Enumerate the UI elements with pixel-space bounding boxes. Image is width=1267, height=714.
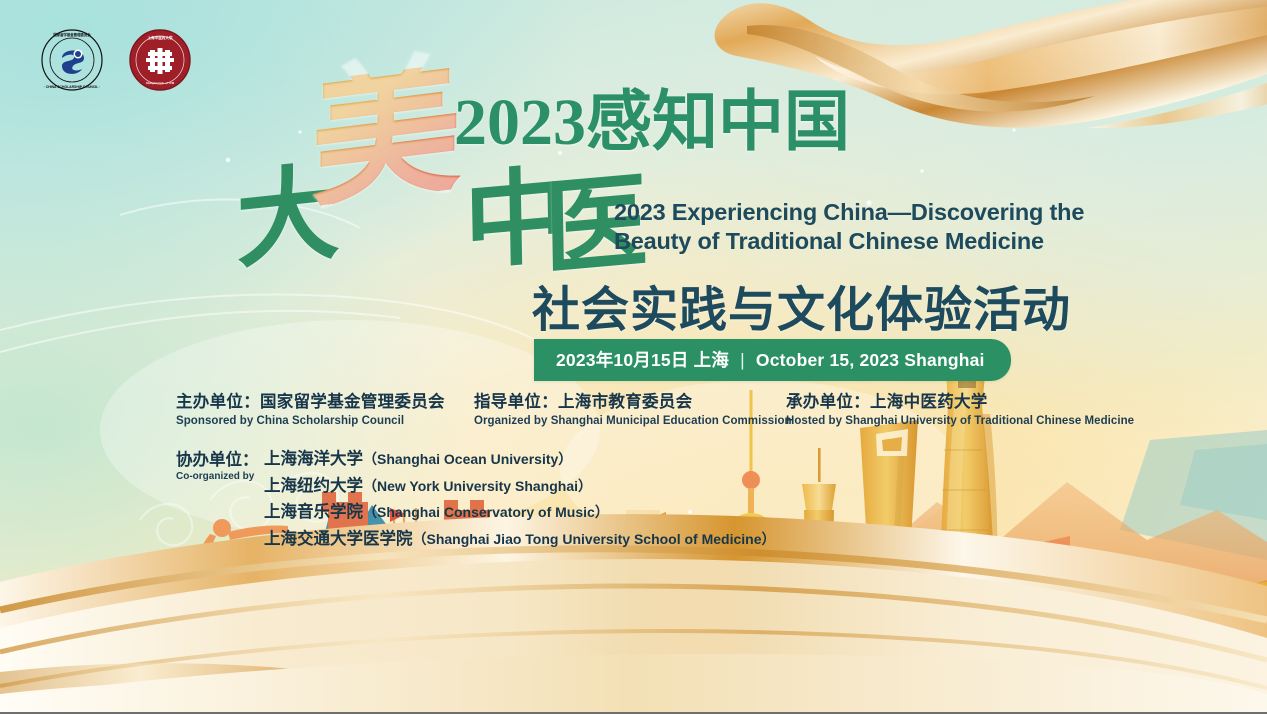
small-gold-buildings [718, 600, 926, 660]
headline-subtitle: 社会实践与文化体验活动 [532, 270, 1071, 340]
event-date-english: October 15, 2023 Shanghai [756, 350, 985, 370]
organizer-sponsor: 主办单位：国家留学基金管理委员会 Sponsored by China Scho… [176, 388, 474, 427]
co-organizer-label-en: Co-organized by [176, 471, 260, 482]
co-organizer-item: 上海海洋大学（Shanghai Ocean University） [264, 446, 776, 473]
co-organizer-item: 上海交通大学医学院（Shanghai Jiao Tong University … [264, 526, 776, 553]
svg-text:上海中医药大学: 上海中医药大学 [147, 35, 173, 40]
organizer-host-cn: 承办单位：上海中医药大学 [786, 388, 1116, 412]
organizer-row: 主办单位：国家留学基金管理委员会 Sponsored by China Scho… [176, 388, 1136, 427]
shanghai-world-financial-center [860, 420, 918, 660]
co-organizer-item: 上海纽约大学（New York University Shanghai） [264, 473, 776, 500]
sponsor-logos: 国家留学基金管理委员会 · CHINA SCHOLARSHIP COUNCIL … [40, 28, 192, 92]
co-organizer-block: 协办单位： Co-organized by 上海海洋大学（Shanghai Oc… [176, 446, 776, 553]
headline-block: 2023感知中国 2023 Experiencing China—Discove… [454, 90, 850, 156]
co-organizer-item-en: （Shanghai Conservatory of Music） [363, 504, 609, 520]
co-organizer-item-en: （Shanghai Jiao Tong University School of… [413, 531, 776, 547]
co-organizer-item-en: （New York University Shanghai） [363, 478, 592, 494]
organizer-sponsor-en: Sponsored by China Scholarship Council [176, 415, 474, 427]
co-organizer-item: 上海音乐学院（Shanghai Conservatory of Music） [264, 499, 776, 526]
organizer-guidance-cn: 指导单位：上海市教育委员会 [474, 388, 786, 412]
organizer-host-en: Hosted by Shanghai University of Traditi… [786, 415, 1116, 427]
headline-english-line1: 2023 Experiencing China—Discovering the [614, 198, 1084, 227]
event-date-badge: 2023年10月15日 上海 | October 15, 2023 Shangh… [534, 339, 1011, 381]
co-organizer-item-cn: 上海音乐学院 [264, 503, 363, 521]
co-organizer-item-cn: 上海纽约大学 [264, 477, 363, 495]
calligraphy-char-mei: 美 [311, 62, 462, 206]
svg-text:国家留学基金管理委员会: 国家留学基金管理委员会 [53, 32, 91, 37]
organizer-guidance-en: Organized by Shanghai Municipal Educatio… [474, 415, 786, 427]
svg-text:Shanghai Univ. of TCM: Shanghai Univ. of TCM [146, 81, 174, 85]
event-date-chinese: 2023年10月15日 上海 [556, 350, 729, 370]
co-organizer-item-en: （Shanghai Ocean University） [363, 451, 572, 467]
co-organizer-list: 上海海洋大学（Shanghai Ocean University） 上海纽约大学… [264, 446, 776, 553]
event-poster: 国家留学基金管理委员会 · CHINA SCHOLARSHIP COUNCIL … [0, 0, 1267, 714]
co-organizer-label: 协办单位： Co-organized by [176, 446, 260, 553]
co-organizer-item-cn: 上海交通大学医学院 [264, 530, 413, 548]
china-scholarship-council-logo: 国家留学基金管理委员会 · CHINA SCHOLARSHIP COUNCIL … [40, 28, 104, 92]
container-ships [880, 640, 1008, 654]
organizer-sponsor-cn: 主办单位：国家留学基金管理委员会 [176, 388, 474, 412]
headline-english-line2: Beauty of Traditional Chinese Medicine [614, 227, 1084, 256]
headline-main: 2023感知中国 [454, 90, 850, 156]
orange-mountains [747, 422, 1267, 652]
organizer-guidance: 指导单位：上海市教育委员会 Organized by Shanghai Muni… [474, 388, 786, 427]
co-organizer-label-cn: 协办单位： [176, 446, 260, 470]
right-orange-buildings [1006, 536, 1070, 660]
jin-mao-tower [796, 448, 842, 660]
headline-english: 2023 Experiencing China—Discovering the … [614, 198, 1084, 256]
co-organizer-item-cn: 上海海洋大学 [264, 450, 363, 468]
event-date-separator: | [734, 350, 751, 370]
organizer-host: 承办单位：上海中医药大学 Hosted by Shanghai Universi… [786, 388, 1116, 427]
svg-text:· CHINA SCHOLARSHIP COUNCIL ·: · CHINA SCHOLARSHIP COUNCIL · [44, 85, 101, 89]
shanghai-university-tcm-logo: 上海中医药大学 Shanghai Univ. of TCM [128, 28, 192, 92]
organizer-credits: 主办单位：国家留学基金管理委员会 Sponsored by China Scho… [176, 388, 1136, 427]
